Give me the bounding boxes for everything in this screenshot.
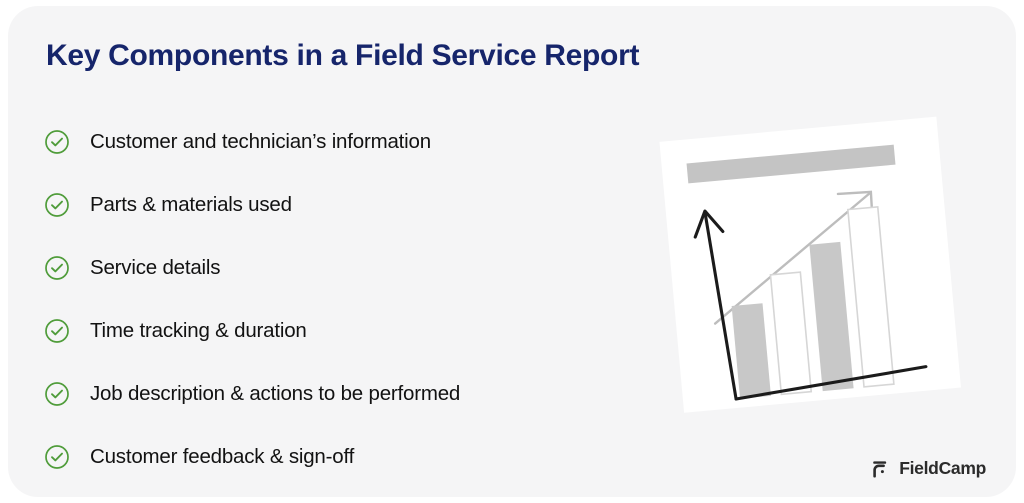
check-circle-icon bbox=[44, 381, 70, 407]
fieldcamp-logo-mark bbox=[871, 458, 892, 479]
key-components-list: Customer and technician’s information Pa… bbox=[44, 110, 664, 488]
bar-chart-growth-illustration bbox=[648, 102, 988, 422]
list-item: Time tracking & duration bbox=[44, 299, 664, 362]
list-item-label: Job description & actions to be performe… bbox=[90, 382, 460, 406]
list-item-label: Service details bbox=[90, 256, 220, 280]
content-card: Key Components in a Field Service Report… bbox=[8, 6, 1016, 497]
page-title: Key Components in a Field Service Report bbox=[46, 39, 639, 73]
check-circle-icon bbox=[44, 318, 70, 344]
list-item: Customer and technician’s information bbox=[44, 110, 664, 173]
check-circle-icon bbox=[44, 129, 70, 155]
list-item-label: Parts & materials used bbox=[90, 193, 292, 217]
list-item-label: Customer and technician’s information bbox=[90, 130, 431, 154]
list-item-label: Time tracking & duration bbox=[90, 319, 307, 343]
check-circle-icon bbox=[44, 255, 70, 281]
page-root: Key Components in a Field Service Report… bbox=[0, 0, 1024, 503]
list-item: Parts & materials used bbox=[44, 173, 664, 236]
check-circle-icon bbox=[44, 444, 70, 470]
list-item: Service details bbox=[44, 236, 664, 299]
list-item-label: Customer feedback & sign-off bbox=[90, 445, 354, 469]
check-circle-icon bbox=[44, 192, 70, 218]
illustration-svg bbox=[648, 102, 988, 422]
list-item: Job description & actions to be performe… bbox=[44, 362, 664, 425]
list-item: Customer feedback & sign-off bbox=[44, 425, 664, 488]
fieldcamp-logo-text: FieldCamp bbox=[899, 458, 986, 479]
fieldcamp-logo: FieldCamp bbox=[871, 458, 986, 479]
